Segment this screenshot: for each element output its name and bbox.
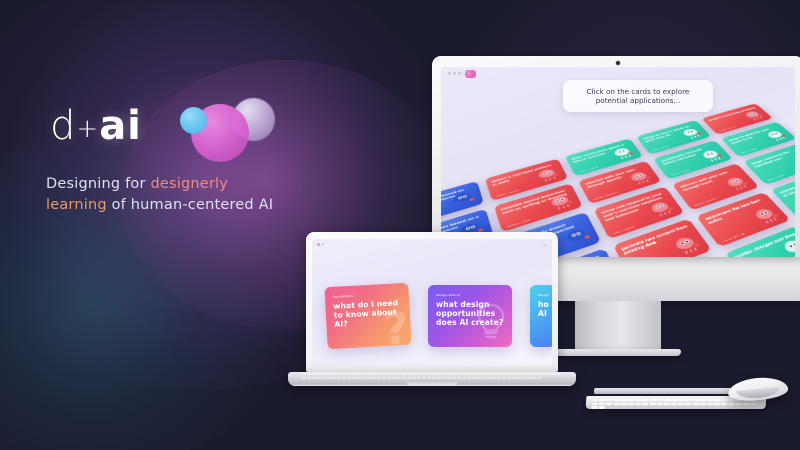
key[interactable] (714, 399, 720, 401)
key[interactable] (437, 377, 441, 379)
key[interactable] (402, 377, 406, 379)
key[interactable] (342, 377, 346, 379)
logo-letter-d: d (50, 103, 76, 149)
logo-lockup: d+ai (46, 96, 346, 158)
key[interactable] (621, 399, 627, 401)
key[interactable] (527, 377, 531, 379)
key[interactable] (517, 377, 521, 379)
key[interactable] (342, 373, 346, 375)
grid-card-label: interact + converse (694, 198, 717, 207)
key[interactable] (685, 399, 691, 401)
key[interactable] (512, 377, 516, 379)
key[interactable] (397, 377, 401, 379)
key[interactable] (412, 373, 416, 375)
key[interactable] (452, 373, 456, 375)
key[interactable] (642, 399, 648, 401)
key[interactable] (527, 373, 531, 375)
logo-letters-ai: ai (99, 103, 142, 149)
laptop-card-foundations[interactable]: foundations what do i need to know about… (324, 283, 411, 350)
key[interactable] (362, 373, 366, 375)
key[interactable] (402, 373, 406, 375)
key[interactable] (621, 403, 627, 405)
question-mark-watermark-icon: ? (382, 307, 410, 350)
key[interactable] (347, 373, 351, 375)
key[interactable] (692, 403, 698, 405)
laptop-screen[interactable]: foundations what do i need to know about… (312, 239, 552, 366)
key[interactable] (432, 373, 436, 375)
grid-card-label: adapt + respond (652, 146, 670, 152)
grid-card-label: recommend + rank (722, 232, 746, 242)
key[interactable] (372, 373, 376, 375)
poster-canvas: d+ai Designing for designerly learning o… (0, 0, 800, 450)
key[interactable] (592, 403, 598, 405)
character-blob-icon (753, 206, 778, 222)
key[interactable] (678, 399, 684, 401)
key[interactable] (467, 377, 471, 379)
laptop-trackpad-notch (406, 381, 458, 385)
grid-card-text: monitor changes over time (734, 232, 795, 257)
key[interactable] (302, 373, 306, 375)
key[interactable] (482, 377, 486, 379)
key[interactable] (628, 399, 634, 401)
key[interactable] (422, 373, 426, 375)
tooltip-callout: Click on the cards to explore potential … (563, 80, 713, 112)
key[interactable] (367, 377, 371, 379)
key[interactable] (552, 373, 556, 375)
grid-card-label: sense + respond (613, 226, 635, 235)
key[interactable] (347, 377, 351, 379)
key[interactable] (635, 399, 641, 401)
key[interactable] (736, 403, 742, 405)
key[interactable] (522, 373, 526, 375)
key[interactable] (447, 377, 451, 379)
key[interactable] (307, 373, 311, 375)
key[interactable] (502, 377, 506, 379)
key[interactable] (664, 399, 670, 401)
key[interactable] (437, 373, 441, 375)
key[interactable] (487, 377, 491, 379)
key[interactable] (507, 377, 511, 379)
key[interactable] (447, 373, 451, 375)
key[interactable] (312, 373, 316, 375)
key[interactable] (606, 399, 612, 401)
key[interactable] (507, 373, 511, 375)
grid-card-label: interact + converse (593, 192, 617, 201)
key[interactable] (502, 373, 506, 375)
key[interactable] (392, 377, 396, 379)
key[interactable] (362, 377, 366, 379)
key[interactable] (337, 377, 341, 379)
key[interactable] (537, 377, 541, 379)
lightbulb-watermark-icon (474, 303, 508, 343)
key[interactable] (457, 377, 461, 379)
key[interactable] (492, 373, 496, 375)
tagline-text-human-centered-ai: of human-centered AI (107, 197, 273, 213)
key[interactable] (397, 373, 401, 375)
logo-mark (174, 96, 279, 158)
key[interactable] (721, 399, 727, 401)
grid-card-label: predict + classify (671, 169, 691, 176)
key[interactable] (307, 377, 311, 379)
key[interactable] (322, 377, 326, 379)
key[interactable] (671, 403, 677, 405)
tagline-line-1: Designing for designerly (46, 174, 346, 195)
monitor-screen[interactable]: classify things based on features or pat… (441, 67, 795, 257)
key[interactable] (472, 373, 476, 375)
laptop-window-controls[interactable] (317, 243, 324, 246)
key[interactable] (352, 373, 356, 375)
key[interactable] (497, 377, 501, 379)
card-label: design (538, 293, 548, 297)
key[interactable] (650, 399, 656, 401)
key[interactable] (512, 373, 516, 375)
grid-card-label: adapt + respond (740, 148, 757, 154)
grid-card-label: adapt + respond (767, 175, 785, 182)
key[interactable] (477, 377, 481, 379)
key[interactable] (352, 377, 356, 379)
key[interactable] (387, 377, 391, 379)
key[interactable] (664, 403, 670, 405)
logo-plus-sign: + (76, 114, 99, 144)
key[interactable] (387, 373, 391, 375)
key[interactable] (357, 377, 361, 379)
key[interactable] (427, 373, 431, 375)
logo-wordmark: d+ai (50, 100, 142, 155)
laptop-keyboard[interactable] (302, 373, 562, 380)
key[interactable] (467, 373, 471, 375)
laptop-base (288, 372, 576, 386)
key[interactable] (635, 403, 641, 405)
key[interactable] (332, 377, 336, 379)
character-blob-icon (766, 129, 787, 140)
key[interactable] (327, 373, 331, 375)
key[interactable] (743, 403, 749, 405)
key[interactable] (357, 373, 361, 375)
key[interactable] (721, 403, 727, 405)
key[interactable] (462, 373, 466, 375)
key[interactable] (657, 399, 663, 401)
key[interactable] (457, 373, 461, 375)
character-blob-icon (744, 110, 764, 120)
tagline-line-2: learning of human-centered AI (46, 195, 346, 216)
key[interactable] (442, 373, 446, 375)
key[interactable] (678, 403, 684, 405)
key[interactable] (599, 406, 605, 408)
key[interactable] (372, 377, 376, 379)
key[interactable] (614, 399, 620, 401)
laptop-card-row: foundations what do i need to know about… (326, 285, 552, 347)
key[interactable] (537, 373, 541, 375)
laptop: foundations what do i need to know about… (288, 232, 576, 386)
laptop-menu-dot-icon[interactable] (543, 244, 546, 247)
laptop-lid: foundations what do i need to know about… (306, 232, 558, 372)
grid-card[interactable]: generate new content from existing datag… (613, 219, 712, 257)
key[interactable] (377, 377, 381, 379)
key[interactable] (452, 377, 456, 379)
key[interactable] (367, 373, 371, 375)
grid-card-label: generate + create (507, 219, 531, 228)
card-question: ho AI (538, 300, 548, 318)
key[interactable] (407, 377, 411, 379)
cyan-circle-icon (180, 107, 207, 134)
key[interactable] (628, 403, 634, 405)
keyboard-keys[interactable] (592, 399, 760, 406)
key[interactable] (492, 377, 496, 379)
key[interactable] (542, 373, 546, 375)
key[interactable] (382, 377, 386, 379)
key[interactable] (392, 373, 396, 375)
key[interactable] (729, 399, 735, 401)
brand-block: d+ai Designing for designerly learning o… (46, 96, 346, 216)
key[interactable] (750, 403, 756, 405)
key[interactable] (417, 377, 421, 379)
key[interactable] (592, 406, 598, 408)
key[interactable] (337, 373, 341, 375)
webcam-icon (616, 61, 620, 65)
tagline-text-designing-for: Designing for (46, 176, 150, 192)
key[interactable] (432, 377, 436, 379)
key[interactable] (382, 373, 386, 375)
key[interactable] (312, 377, 316, 379)
grid-card-label: predict + classify (496, 190, 519, 198)
key[interactable] (322, 373, 326, 375)
laptop-card-design-with-ai[interactable]: design with ai what design opportunities… (428, 285, 512, 347)
key[interactable] (599, 399, 605, 401)
key[interactable] (442, 377, 446, 379)
key[interactable] (532, 373, 536, 375)
key[interactable] (606, 403, 612, 405)
laptop-card-partial[interactable]: design ho AI (530, 285, 552, 347)
key[interactable] (482, 373, 486, 375)
key[interactable] (377, 373, 381, 375)
key[interactable] (693, 399, 699, 401)
key[interactable] (557, 373, 561, 375)
key[interactable] (412, 377, 416, 379)
key[interactable] (332, 373, 336, 375)
key[interactable] (685, 403, 691, 405)
key[interactable] (417, 373, 421, 375)
key[interactable] (497, 373, 501, 375)
monitor-stand-neck (575, 301, 661, 349)
key[interactable] (707, 403, 713, 405)
key[interactable] (327, 377, 331, 379)
key[interactable] (649, 403, 655, 405)
key[interactable] (462, 377, 466, 379)
tagline-text-learning: learning (46, 197, 107, 213)
key[interactable] (700, 399, 706, 401)
desk-mouse[interactable] (727, 375, 789, 402)
key[interactable] (522, 377, 526, 379)
key[interactable] (427, 377, 431, 379)
key[interactable] (472, 377, 476, 379)
key[interactable] (642, 403, 648, 405)
key[interactable] (407, 373, 411, 375)
key[interactable] (592, 399, 598, 401)
monitor-bezel: classify things based on features or pat… (432, 56, 800, 257)
key[interactable] (317, 377, 321, 379)
key[interactable] (302, 377, 306, 379)
key[interactable] (657, 403, 663, 405)
key[interactable] (728, 403, 734, 405)
key[interactable] (671, 399, 677, 401)
key[interactable] (714, 403, 720, 405)
key[interactable] (477, 373, 481, 375)
key[interactable] (317, 373, 321, 375)
key[interactable] (700, 403, 706, 405)
key[interactable] (517, 373, 521, 375)
grid-card-label: predict + classify (719, 126, 736, 132)
key[interactable] (422, 377, 426, 379)
tagline-text-designerly: designerly (150, 176, 228, 192)
key[interactable] (532, 377, 536, 379)
key[interactable] (707, 399, 713, 401)
key[interactable] (547, 373, 551, 375)
card-label: design with ai (436, 293, 504, 297)
key[interactable] (487, 373, 491, 375)
key[interactable] (599, 403, 605, 405)
grid-card-label: predict + classify (579, 166, 600, 173)
tagline: Designing for designerly learning of hum… (46, 174, 346, 216)
key[interactable] (613, 403, 619, 405)
